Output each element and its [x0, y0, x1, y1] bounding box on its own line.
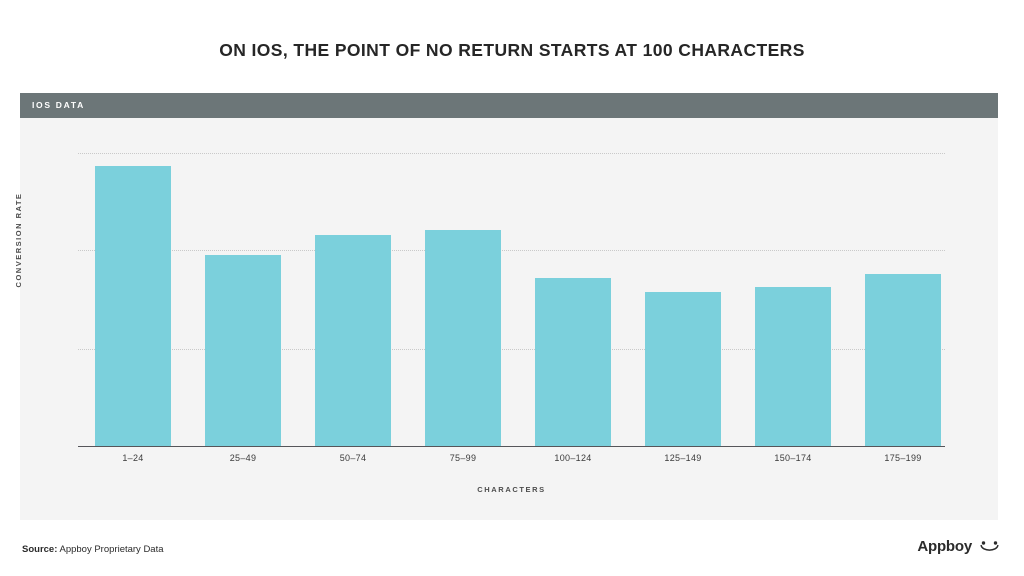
x-tick-label: 75–99	[408, 453, 518, 463]
x-tick-label: 25–49	[188, 453, 298, 463]
bar-slot	[738, 153, 848, 446]
bar-25-49[interactable]	[205, 255, 281, 446]
page-title: ON IOS, THE POINT OF NO RETURN STARTS AT…	[0, 40, 1024, 61]
y-axis-title: CONVERSION RATE	[10, 93, 28, 387]
x-tick-label: 175–199	[848, 453, 958, 463]
source-note: Source: Appboy Proprietary Data	[22, 544, 164, 555]
plot-area	[78, 153, 945, 447]
appboy-logo: Appboy	[917, 538, 1002, 555]
x-axis-title: CHARACTERS	[78, 485, 945, 494]
brand-name: Appboy	[917, 538, 972, 555]
bar-100-124[interactable]	[535, 278, 611, 446]
x-axis-line	[78, 446, 945, 447]
x-tick-label: 125–149	[628, 453, 738, 463]
source-label: Source:	[22, 544, 57, 555]
x-tick-label: 150–174	[738, 453, 848, 463]
bar-1-24[interactable]	[95, 166, 171, 446]
bar-50-74[interactable]	[315, 235, 391, 446]
bar-slot	[628, 153, 738, 446]
panel-header-bar: IOS DATA	[20, 93, 998, 118]
bar-125-149[interactable]	[645, 292, 721, 446]
x-tick-label: 1–24	[78, 453, 188, 463]
bar-175-199[interactable]	[865, 274, 941, 446]
bar-slot	[848, 153, 958, 446]
source-text: Appboy Proprietary Data	[57, 544, 163, 555]
bar-150-174[interactable]	[755, 287, 831, 446]
bar-slot	[408, 153, 518, 446]
bar-slot	[188, 153, 298, 446]
chart-panel: IOS DATA CONVERSION RATE 1–2425–4950–747…	[20, 93, 998, 520]
x-tick-label: 100–124	[518, 453, 628, 463]
bar-series	[78, 153, 945, 446]
bar-slot	[298, 153, 408, 446]
smiley-face-icon	[978, 539, 1002, 555]
bar-slot	[78, 153, 188, 446]
panel-header-label: IOS DATA	[32, 93, 85, 118]
x-axis-tick-labels: 1–2425–4950–7475–99100–124125–149150–174…	[78, 453, 945, 469]
bar-slot	[518, 153, 628, 446]
x-tick-label: 50–74	[298, 453, 408, 463]
bar-75-99[interactable]	[425, 230, 501, 446]
